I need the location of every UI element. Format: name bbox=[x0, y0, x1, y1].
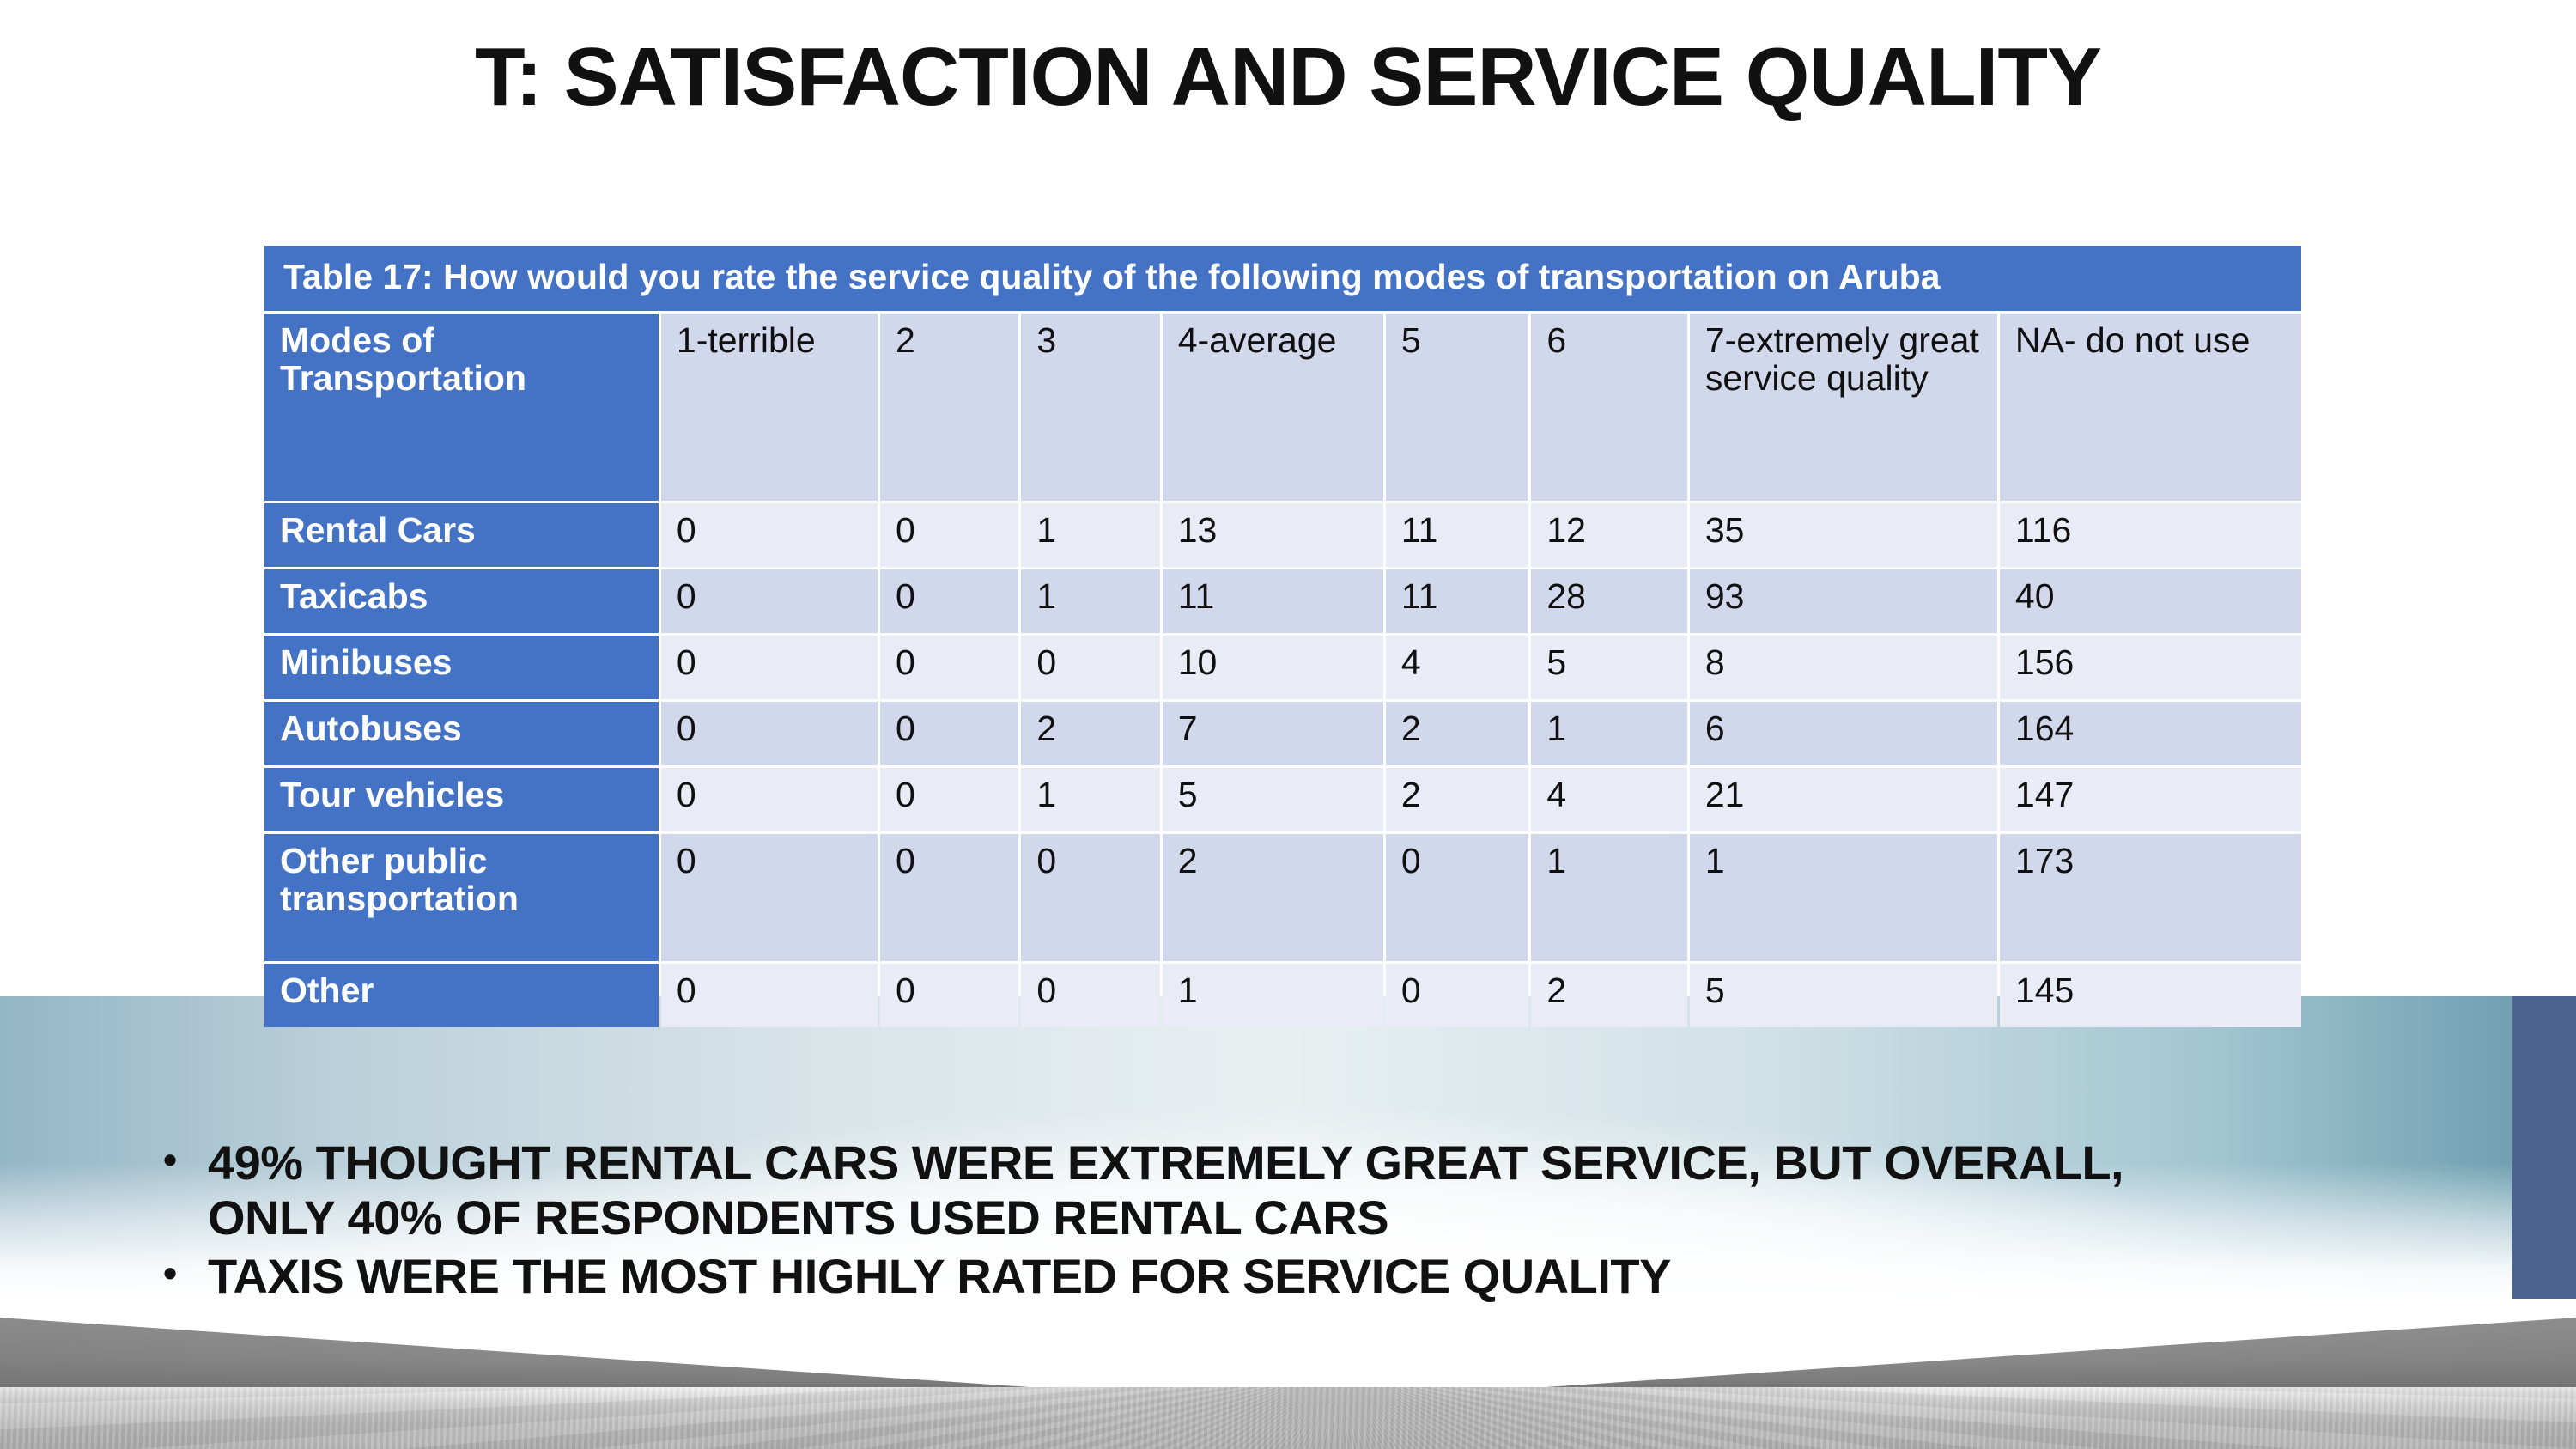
cell-minibuses-7: 8 bbox=[1690, 636, 1997, 699]
row-label-taxicabs: Taxicabs bbox=[264, 569, 659, 633]
cell-other-5: 0 bbox=[1386, 964, 1528, 1027]
bullet-dot-icon: • bbox=[163, 1135, 208, 1184]
cell-rental-cars-7: 35 bbox=[1690, 503, 1997, 567]
list-item: • TAXIS WERE THE MOST HIGHLY RATED FOR S… bbox=[163, 1249, 2396, 1304]
bullet-text-rental-cars: 49% THOUGHT RENTAL CARS WERE EXTREMELY G… bbox=[208, 1135, 2166, 1245]
cell-other-4: 1 bbox=[1163, 964, 1383, 1027]
column-header-2: 2 bbox=[880, 314, 1018, 501]
table-row: Tour vehicles 0 0 1 5 2 4 21 147 bbox=[264, 768, 2301, 831]
cell-autobuses-1: 0 bbox=[661, 702, 878, 765]
row-label-rental-cars: Rental Cars bbox=[264, 503, 659, 567]
cell-tour-vehicles-2: 0 bbox=[880, 768, 1018, 831]
table-row: Rental Cars 0 0 1 13 11 12 35 116 bbox=[264, 503, 2301, 567]
cell-other-2: 0 bbox=[880, 964, 1018, 1027]
cell-tour-vehicles-6: 4 bbox=[1531, 768, 1687, 831]
cell-other-public-5: 0 bbox=[1386, 834, 1528, 961]
row-label-minibuses: Minibuses bbox=[264, 636, 659, 699]
page-title: T: SATISFACTION AND SERVICE QUALITY bbox=[0, 34, 2576, 121]
column-header-7-extremely-great: 7-extremely great service quality bbox=[1690, 314, 1997, 501]
row-label-autobuses: Autobuses bbox=[264, 702, 659, 765]
table-row: Other public transportation 0 0 0 2 0 1 … bbox=[264, 834, 2301, 961]
cell-autobuses-2: 0 bbox=[880, 702, 1018, 765]
cell-minibuses-3: 0 bbox=[1021, 636, 1159, 699]
cell-rental-cars-6: 12 bbox=[1531, 503, 1687, 567]
cell-tour-vehicles-3: 1 bbox=[1021, 768, 1159, 831]
cell-other-public-4: 2 bbox=[1163, 834, 1383, 961]
row-label-other: Other bbox=[264, 964, 659, 1027]
cell-other-1: 0 bbox=[661, 964, 878, 1027]
cell-rental-cars-4: 13 bbox=[1163, 503, 1383, 567]
cell-other-public-1: 0 bbox=[661, 834, 878, 961]
cell-rental-cars-1: 0 bbox=[661, 503, 878, 567]
table-row: Minibuses 0 0 0 10 4 5 8 156 bbox=[264, 636, 2301, 699]
cell-autobuses-5: 2 bbox=[1386, 702, 1528, 765]
cell-taxicabs-1: 0 bbox=[661, 569, 878, 633]
cell-tour-vehicles-5: 2 bbox=[1386, 768, 1528, 831]
cell-minibuses-2: 0 bbox=[880, 636, 1018, 699]
cell-tour-vehicles-1: 0 bbox=[661, 768, 878, 831]
cell-rental-cars-na: 116 bbox=[2000, 503, 2301, 567]
cell-other-6: 2 bbox=[1531, 964, 1687, 1027]
cell-other-public-6: 1 bbox=[1531, 834, 1687, 961]
photo-road-motion-blur bbox=[0, 1387, 2576, 1449]
cell-minibuses-1: 0 bbox=[661, 636, 878, 699]
cell-minibuses-na: 156 bbox=[2000, 636, 2301, 699]
cell-rental-cars-5: 11 bbox=[1386, 503, 1528, 567]
cell-tour-vehicles-na: 147 bbox=[2000, 768, 2301, 831]
cell-taxicabs-3: 1 bbox=[1021, 569, 1159, 633]
cell-other-na: 145 bbox=[2000, 964, 2301, 1027]
cell-other-public-3: 0 bbox=[1021, 834, 1159, 961]
cell-rental-cars-2: 0 bbox=[880, 503, 1018, 567]
cell-tour-vehicles-4: 5 bbox=[1163, 768, 1383, 831]
cell-taxicabs-na: 40 bbox=[2000, 569, 2301, 633]
cell-autobuses-4: 7 bbox=[1163, 702, 1383, 765]
column-header-4-average: 4-average bbox=[1163, 314, 1383, 501]
cell-other-3: 0 bbox=[1021, 964, 1159, 1027]
slide-canvas: T: SATISFACTION AND SERVICE QUALITY Tabl… bbox=[0, 0, 2576, 1449]
cell-autobuses-3: 2 bbox=[1021, 702, 1159, 765]
table-row: Taxicabs 0 0 1 11 11 28 93 40 bbox=[264, 569, 2301, 633]
cell-minibuses-5: 4 bbox=[1386, 636, 1528, 699]
cell-autobuses-7: 6 bbox=[1690, 702, 1997, 765]
cell-autobuses-6: 1 bbox=[1531, 702, 1687, 765]
column-header-1-terrible: 1-terrible bbox=[661, 314, 878, 501]
table-row: Autobuses 0 0 2 7 2 1 6 164 bbox=[264, 702, 2301, 765]
table-caption-row: Table 17: How would you rate the service… bbox=[264, 246, 2301, 311]
accent-rectangle bbox=[2512, 996, 2576, 1299]
service-quality-table: Table 17: How would you rate the service… bbox=[262, 243, 2304, 1030]
cell-other-public-7: 1 bbox=[1690, 834, 1997, 961]
cell-other-public-2: 0 bbox=[880, 834, 1018, 961]
column-header-5: 5 bbox=[1386, 314, 1528, 501]
cell-taxicabs-6: 28 bbox=[1531, 569, 1687, 633]
column-header-6: 6 bbox=[1531, 314, 1687, 501]
bullet-text-taxis: TAXIS WERE THE MOST HIGHLY RATED FOR SER… bbox=[208, 1249, 2166, 1304]
table-row: Other 0 0 0 1 0 2 5 145 bbox=[264, 964, 2301, 1027]
table-caption: Table 17: How would you rate the service… bbox=[264, 246, 2301, 311]
bullet-dot-icon: • bbox=[163, 1249, 208, 1297]
cell-minibuses-4: 10 bbox=[1163, 636, 1383, 699]
column-header-modes: Modes of Transportation bbox=[264, 314, 659, 501]
cell-other-7: 5 bbox=[1690, 964, 1997, 1027]
column-header-3: 3 bbox=[1021, 314, 1159, 501]
list-item: • 49% THOUGHT RENTAL CARS WERE EXTREMELY… bbox=[163, 1135, 2396, 1245]
cell-other-public-na: 173 bbox=[2000, 834, 2301, 961]
row-label-tour-vehicles: Tour vehicles bbox=[264, 768, 659, 831]
cell-taxicabs-7: 93 bbox=[1690, 569, 1997, 633]
cell-taxicabs-4: 11 bbox=[1163, 569, 1383, 633]
row-label-other-public-transportation: Other public transportation bbox=[264, 834, 659, 961]
bullet-list: • 49% THOUGHT RENTAL CARS WERE EXTREMELY… bbox=[163, 1135, 2396, 1306]
table-header-row: Modes of Transportation 1-terrible 2 3 4… bbox=[264, 314, 2301, 501]
cell-taxicabs-2: 0 bbox=[880, 569, 1018, 633]
cell-tour-vehicles-7: 21 bbox=[1690, 768, 1997, 831]
cell-taxicabs-5: 11 bbox=[1386, 569, 1528, 633]
cell-minibuses-6: 5 bbox=[1531, 636, 1687, 699]
cell-autobuses-na: 164 bbox=[2000, 702, 2301, 765]
column-header-na-do-not-use: NA- do not use bbox=[2000, 314, 2301, 501]
cell-rental-cars-3: 1 bbox=[1021, 503, 1159, 567]
